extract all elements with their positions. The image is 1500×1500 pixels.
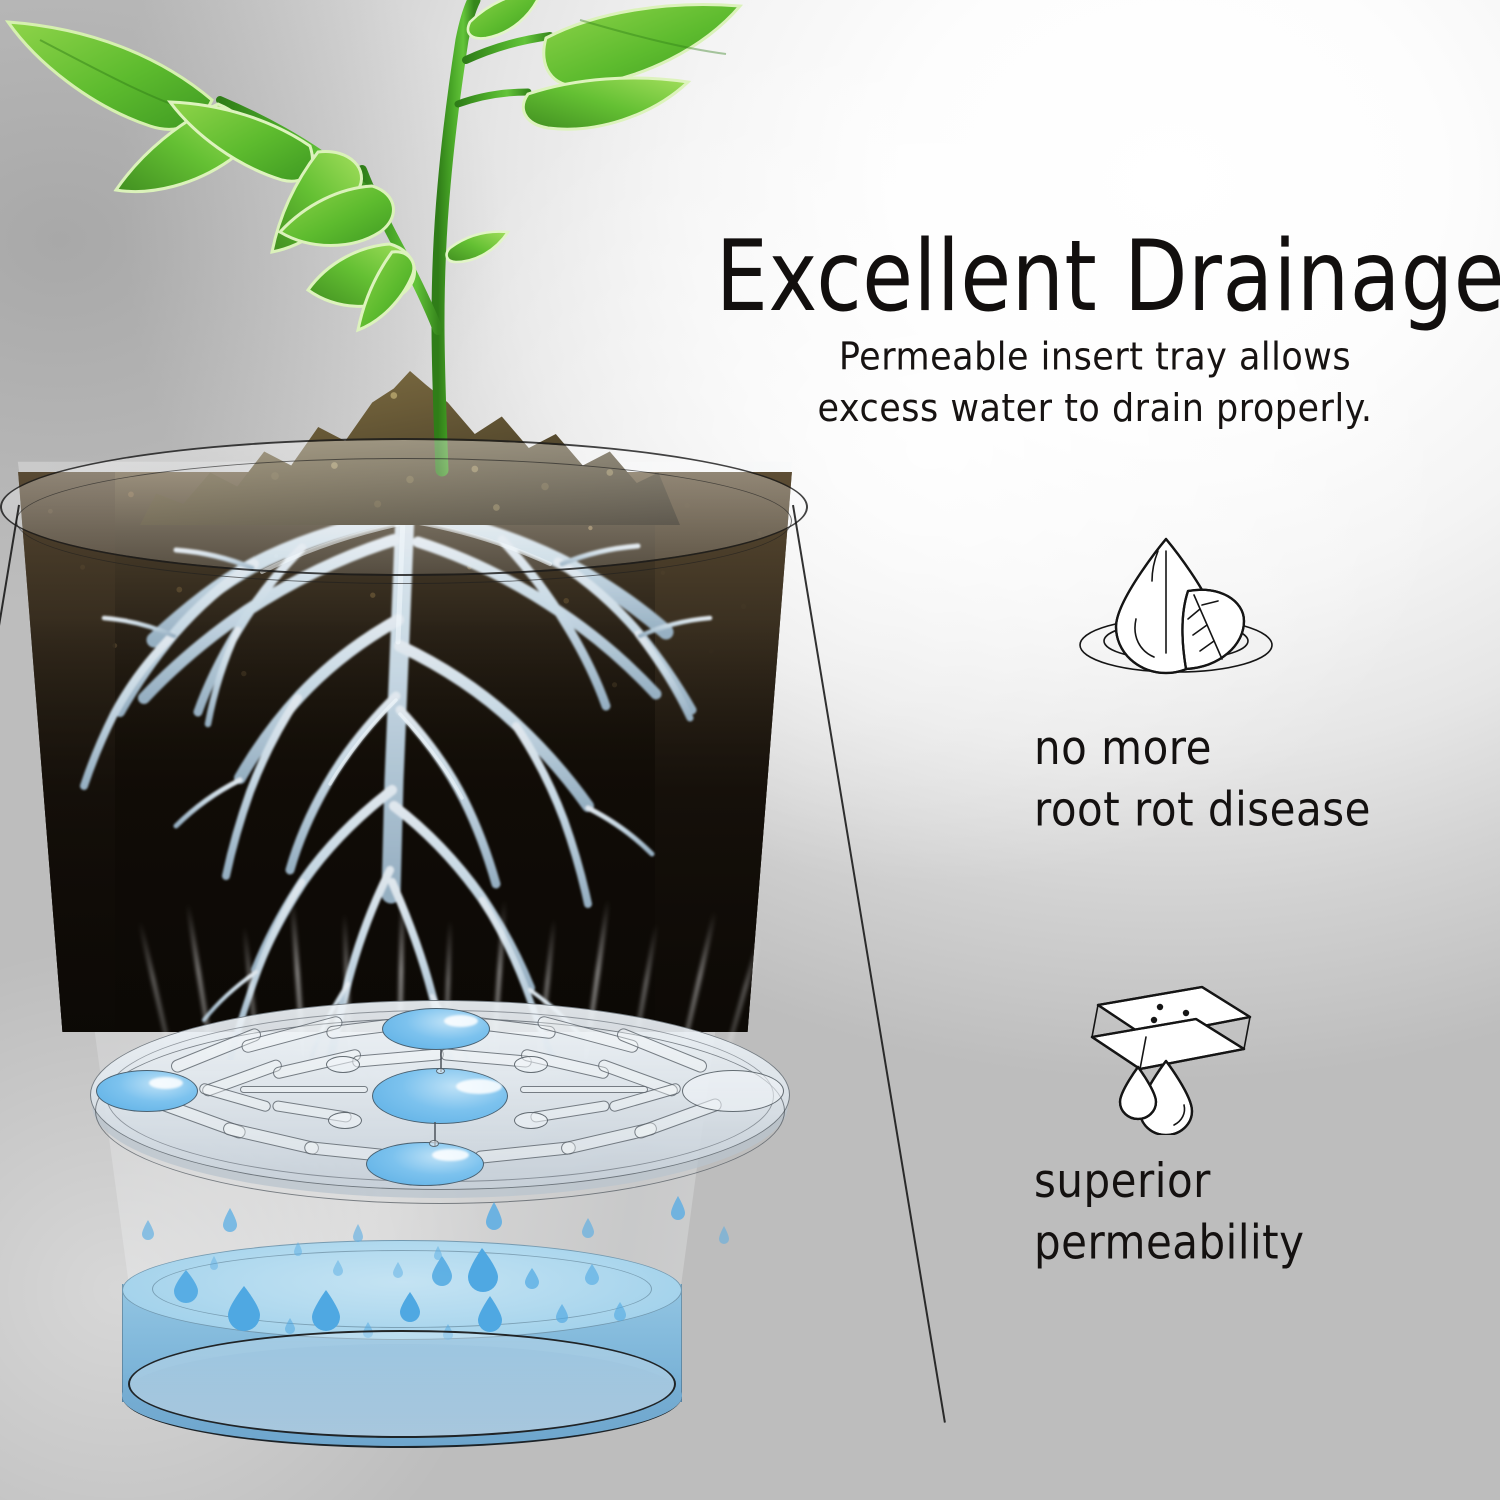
- page-title: Excellent Drainage: [716, 228, 1474, 328]
- feature-2-caption-line-1: superior: [1034, 1150, 1305, 1212]
- falling-droplets: [90, 1180, 790, 1290]
- subtitle-line-2: excess water to drain properly.: [700, 383, 1490, 434]
- feature-1-caption-line-1: no more: [1034, 717, 1371, 779]
- tray-center-hole: [372, 1068, 508, 1124]
- product-feature-graphic: Excellent Drainage Permeable insert tray…: [0, 0, 1500, 1500]
- feature-2-caption: superior permeability: [1034, 1150, 1305, 1274]
- pot-base: [128, 1330, 676, 1438]
- water-drop-leaf-saucer-icon: [1062, 527, 1292, 687]
- pot-rim-inner: [16, 458, 792, 584]
- page-subtitle: Permeable insert tray allows excess wate…: [700, 332, 1490, 434]
- feature-1-caption: no more root rot disease: [1034, 717, 1371, 841]
- permeable-sheets-droplets-icon: [1054, 975, 1284, 1135]
- tray-top-hole: [382, 1008, 490, 1050]
- feature-1-caption-line-2: root rot disease: [1034, 779, 1371, 841]
- tray-left-hole: [96, 1070, 198, 1112]
- feature-2-caption-line-2: permeability: [1034, 1212, 1305, 1274]
- tray-right-hole: [682, 1070, 784, 1112]
- subtitle-line-1: Permeable insert tray allows: [700, 332, 1490, 383]
